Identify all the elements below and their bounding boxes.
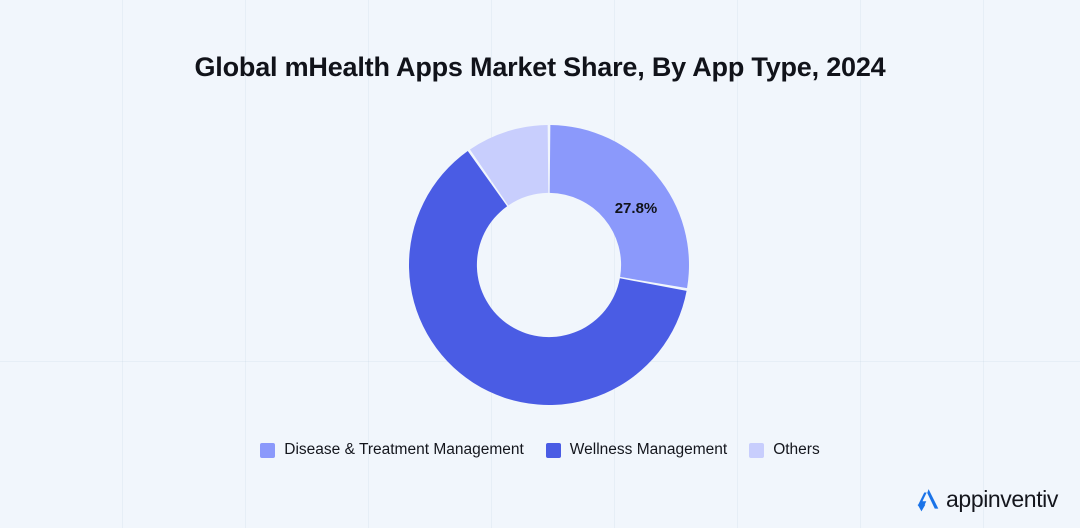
legend-item-label: Wellness Management — [570, 441, 727, 459]
legend-item[interactable]: Disease & Treatment Management — [260, 441, 524, 459]
donut-slice-group — [409, 125, 689, 405]
legend-item[interactable]: Others — [749, 441, 820, 459]
legend-swatch-icon — [260, 443, 275, 458]
chart-canvas: Global mHealth Apps Market Share, By App… — [0, 0, 1080, 528]
legend-swatch-icon — [546, 443, 561, 458]
appinventiv-mark-icon — [913, 484, 943, 514]
chart-legend: Disease & Treatment Management Wellness … — [0, 441, 1080, 459]
slice-value-label: 27.8% — [609, 200, 663, 217]
legend-item-label: Others — [773, 441, 820, 459]
donut-svg — [409, 125, 689, 405]
chart-title: Global mHealth Apps Market Share, By App… — [0, 52, 1080, 83]
legend-swatch-icon — [749, 443, 764, 458]
legend-item[interactable]: Wellness Management — [546, 441, 727, 459]
legend-item-label: Disease & Treatment Management — [284, 441, 524, 459]
donut-chart — [409, 125, 689, 405]
appinventiv-wordmark: appinventiv — [946, 486, 1058, 513]
appinventiv-logo: appinventiv — [913, 484, 1058, 514]
